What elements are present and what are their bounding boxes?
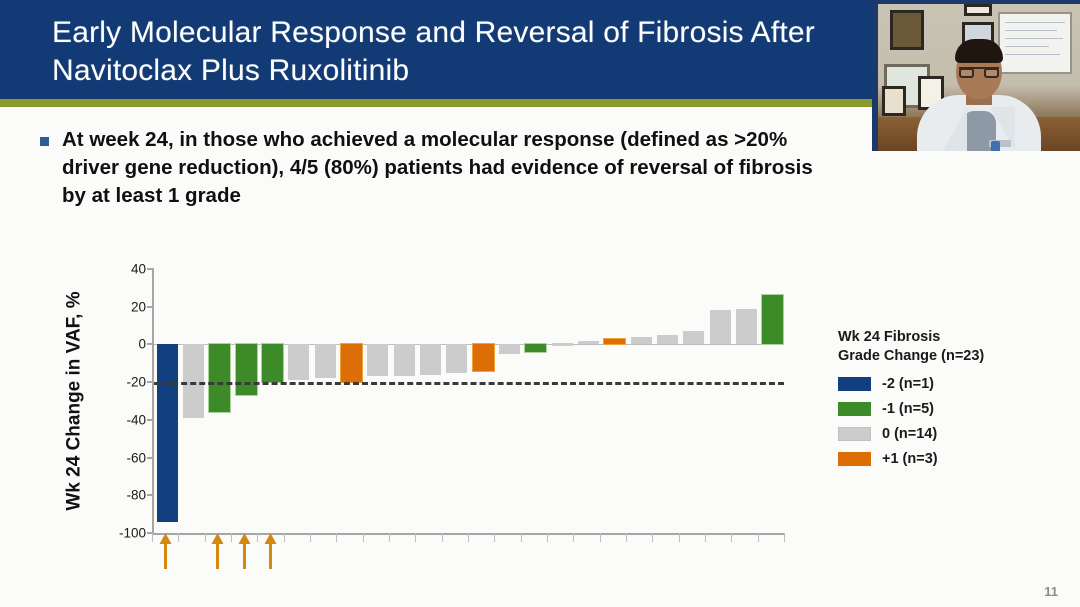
x-axis-tick — [178, 533, 179, 542]
legend-swatch — [838, 377, 871, 391]
x-axis-tick — [494, 533, 495, 542]
waterfall-bar — [736, 309, 757, 345]
waterfall-bar — [446, 344, 467, 372]
title-bar: Early Molecular Response and Reversal of… — [0, 0, 872, 103]
y-axis-title-text: Wk 24 Change in VAF, % — [64, 291, 86, 510]
x-axis-tick — [705, 533, 706, 542]
wall-art-2 — [964, 4, 992, 16]
x-axis-tick — [573, 533, 574, 542]
slide-title: Early Molecular Response and Reversal of… — [52, 14, 854, 91]
x-axis-tick — [626, 533, 627, 542]
waterfall-bar — [683, 331, 704, 344]
x-axis-tick — [284, 533, 285, 542]
waterfall-bar — [552, 343, 573, 346]
y-axis-tick — [147, 419, 154, 421]
waterfall-bar — [578, 341, 599, 345]
bullet-text: At week 24, in those who achieved a mole… — [62, 126, 840, 210]
legend-title: Wk 24 Fibrosis Grade Change (n=23) — [838, 328, 1058, 366]
x-axis-tick — [784, 533, 785, 542]
legend-label: -2 (n=1) — [882, 376, 934, 392]
x-axis-tick — [521, 533, 522, 542]
waterfall-bar — [473, 344, 494, 370]
legend-item-list: -2 (n=1)-1 (n=5)0 (n=14)+1 (n=3) — [838, 376, 1058, 467]
y-axis-title: Wk 24 Change in VAF, % — [62, 272, 88, 530]
title-accent-rule — [0, 103, 872, 107]
bullet-block: At week 24, in those who achieved a mole… — [40, 126, 840, 210]
x-axis-tick — [468, 533, 469, 542]
x-axis-tick — [731, 533, 732, 542]
labcoat-badge — [991, 141, 1000, 151]
waterfall-bar — [394, 344, 415, 376]
x-axis-tick — [442, 533, 443, 542]
waterfall-bar — [525, 344, 546, 352]
y-axis-tick — [147, 343, 154, 345]
y-axis-tick-label: -100 — [119, 526, 146, 541]
x-axis-tick — [758, 533, 759, 542]
x-axis-tick — [415, 533, 416, 542]
y-axis-tick — [147, 381, 154, 383]
slide-root: Early Molecular Response and Reversal of… — [0, 0, 1080, 607]
threshold-dashed-line — [154, 382, 784, 385]
waterfall-bar — [710, 310, 731, 344]
x-axis-tick — [389, 533, 390, 542]
glasses-icon — [959, 67, 999, 77]
waterfall-bar — [657, 335, 678, 344]
waterfall-bar — [157, 344, 178, 521]
fibrosis-reversal-arrow-icon — [211, 533, 224, 569]
y-axis-tick-label: 20 — [131, 299, 146, 314]
y-axis-tick — [147, 494, 154, 496]
x-axis-tick — [363, 533, 364, 542]
wall-art-1 — [890, 10, 924, 50]
whiteboard-prop — [998, 12, 1072, 74]
x-axis-tick — [310, 533, 311, 542]
waterfall-bar — [236, 344, 257, 395]
legend-swatch — [838, 427, 871, 441]
legend-swatch — [838, 402, 871, 416]
legend-label: -1 (n=5) — [882, 401, 934, 417]
fibrosis-reversal-arrow-icon — [238, 533, 251, 569]
x-axis-tick — [152, 533, 153, 542]
page-number: 11 — [1044, 584, 1058, 599]
wall-art-6 — [882, 86, 906, 116]
legend-swatch — [838, 452, 871, 466]
labcoat-lapel-left — [943, 107, 967, 151]
x-axis-tick — [336, 533, 337, 542]
y-axis-tick-label: 0 — [138, 337, 146, 352]
x-axis-tick — [205, 533, 206, 542]
y-axis-tick-label: -20 — [126, 375, 146, 390]
waterfall-bar — [262, 344, 283, 382]
presenter-hair — [955, 39, 1003, 63]
x-axis-tick — [679, 533, 680, 542]
waterfall-bar — [209, 344, 230, 412]
legend-item: -1 (n=5) — [838, 401, 1058, 417]
presenter-video-thumbnail[interactable] — [872, 0, 1080, 151]
x-axis-tick — [257, 533, 258, 542]
y-axis-tick — [147, 457, 154, 459]
waterfall-bar — [288, 344, 309, 380]
y-axis-tick-label: 40 — [131, 262, 146, 277]
waterfall-plot: 40200-20-40-60-80-100 — [152, 269, 784, 533]
legend-item: -2 (n=1) — [838, 376, 1058, 392]
waterfall-bar — [367, 344, 388, 376]
legend-label: 0 (n=14) — [882, 426, 937, 442]
fibrosis-reversal-arrow-icon — [264, 533, 277, 569]
chart-legend: Wk 24 Fibrosis Grade Change (n=23) -2 (n… — [838, 328, 1058, 476]
legend-label: +1 (n=3) — [882, 451, 938, 467]
fibrosis-reversal-arrow-icon — [159, 533, 172, 569]
waterfall-bar — [499, 344, 520, 353]
x-axis-tick — [600, 533, 601, 542]
legend-item: 0 (n=14) — [838, 426, 1058, 442]
x-axis-tick — [547, 533, 548, 542]
legend-item: +1 (n=3) — [838, 451, 1058, 467]
y-axis-tick — [147, 306, 154, 308]
waterfall-bar — [315, 344, 336, 378]
y-axis-tick-label: -80 — [126, 488, 146, 503]
bullet-square-icon — [40, 137, 49, 146]
waterfall-bar — [631, 337, 652, 345]
y-axis-tick-label: -40 — [126, 412, 146, 427]
waterfall-bar — [420, 344, 441, 374]
x-axis-tick — [231, 533, 232, 542]
bullet-item: At week 24, in those who achieved a mole… — [40, 126, 840, 210]
y-axis-tick — [147, 268, 154, 270]
waterfall-bar — [604, 339, 625, 345]
waterfall-bar — [341, 344, 362, 382]
x-axis-tick — [652, 533, 653, 542]
waterfall-bar — [762, 295, 783, 344]
video-frame — [878, 4, 1080, 151]
y-axis-tick-label: -60 — [126, 450, 146, 465]
